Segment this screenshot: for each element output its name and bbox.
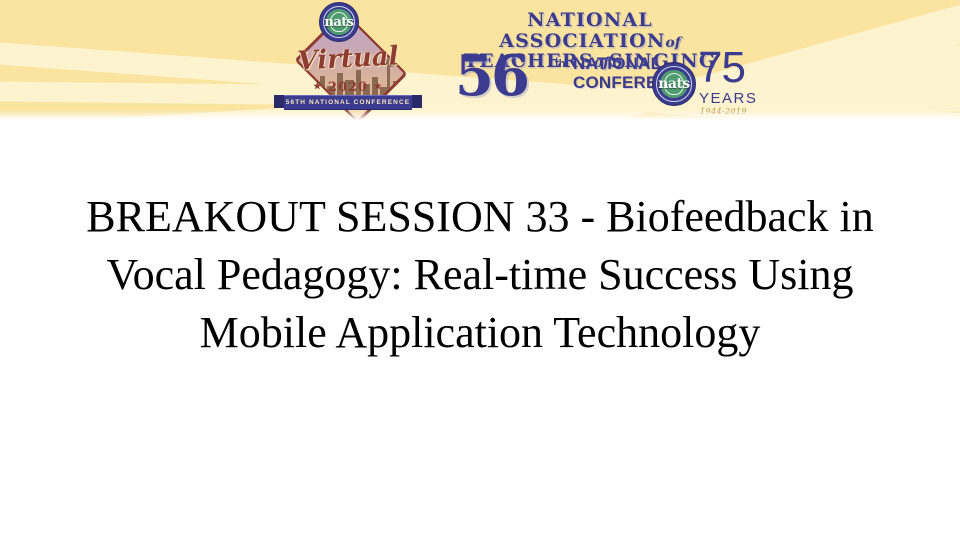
anniversary-number: 75 bbox=[698, 46, 745, 90]
nats-seal-label: nats bbox=[320, 3, 358, 41]
conference-ordinal-suffix: th bbox=[555, 58, 565, 70]
banner-bottom-fade bbox=[0, 110, 960, 120]
conference-header-banner: nats Virtual ★ 2020 ★ 56TH NATIONAL CONF… bbox=[0, 0, 960, 120]
conference-number-block: 56 th NATIONAL CONFERENCE bbox=[455, 52, 665, 110]
nats-anniversary-seal-label: nats bbox=[653, 63, 695, 105]
emblem-year-value: 2020 bbox=[328, 80, 368, 95]
nats-seal-icon: nats bbox=[319, 2, 359, 42]
nats-anniversary-seal-icon: nats bbox=[652, 62, 696, 106]
conference-number: 56 bbox=[455, 48, 527, 104]
virtual-2020-emblem: nats Virtual ★ 2020 ★ 56TH NATIONAL CONF… bbox=[262, 2, 434, 118]
star-icon-left: ★ bbox=[313, 82, 322, 92]
star-icon-right: ★ bbox=[374, 82, 383, 92]
wordmark-of-1: of bbox=[665, 35, 680, 51]
slide-title: BREAKOUT SESSION 33 - Biofeedback in Voc… bbox=[40, 188, 920, 362]
slide-title-block: BREAKOUT SESSION 33 - Biofeedback in Voc… bbox=[40, 188, 920, 362]
slide-canvas: nats Virtual ★ 2020 ★ 56TH NATIONAL CONF… bbox=[0, 0, 960, 540]
anniversary-years-label: YEARS bbox=[699, 90, 757, 107]
emblem-year: ★ 2020 ★ bbox=[284, 80, 412, 95]
emblem-ribbon-text: 56TH NATIONAL CONFERENCE bbox=[284, 95, 412, 110]
